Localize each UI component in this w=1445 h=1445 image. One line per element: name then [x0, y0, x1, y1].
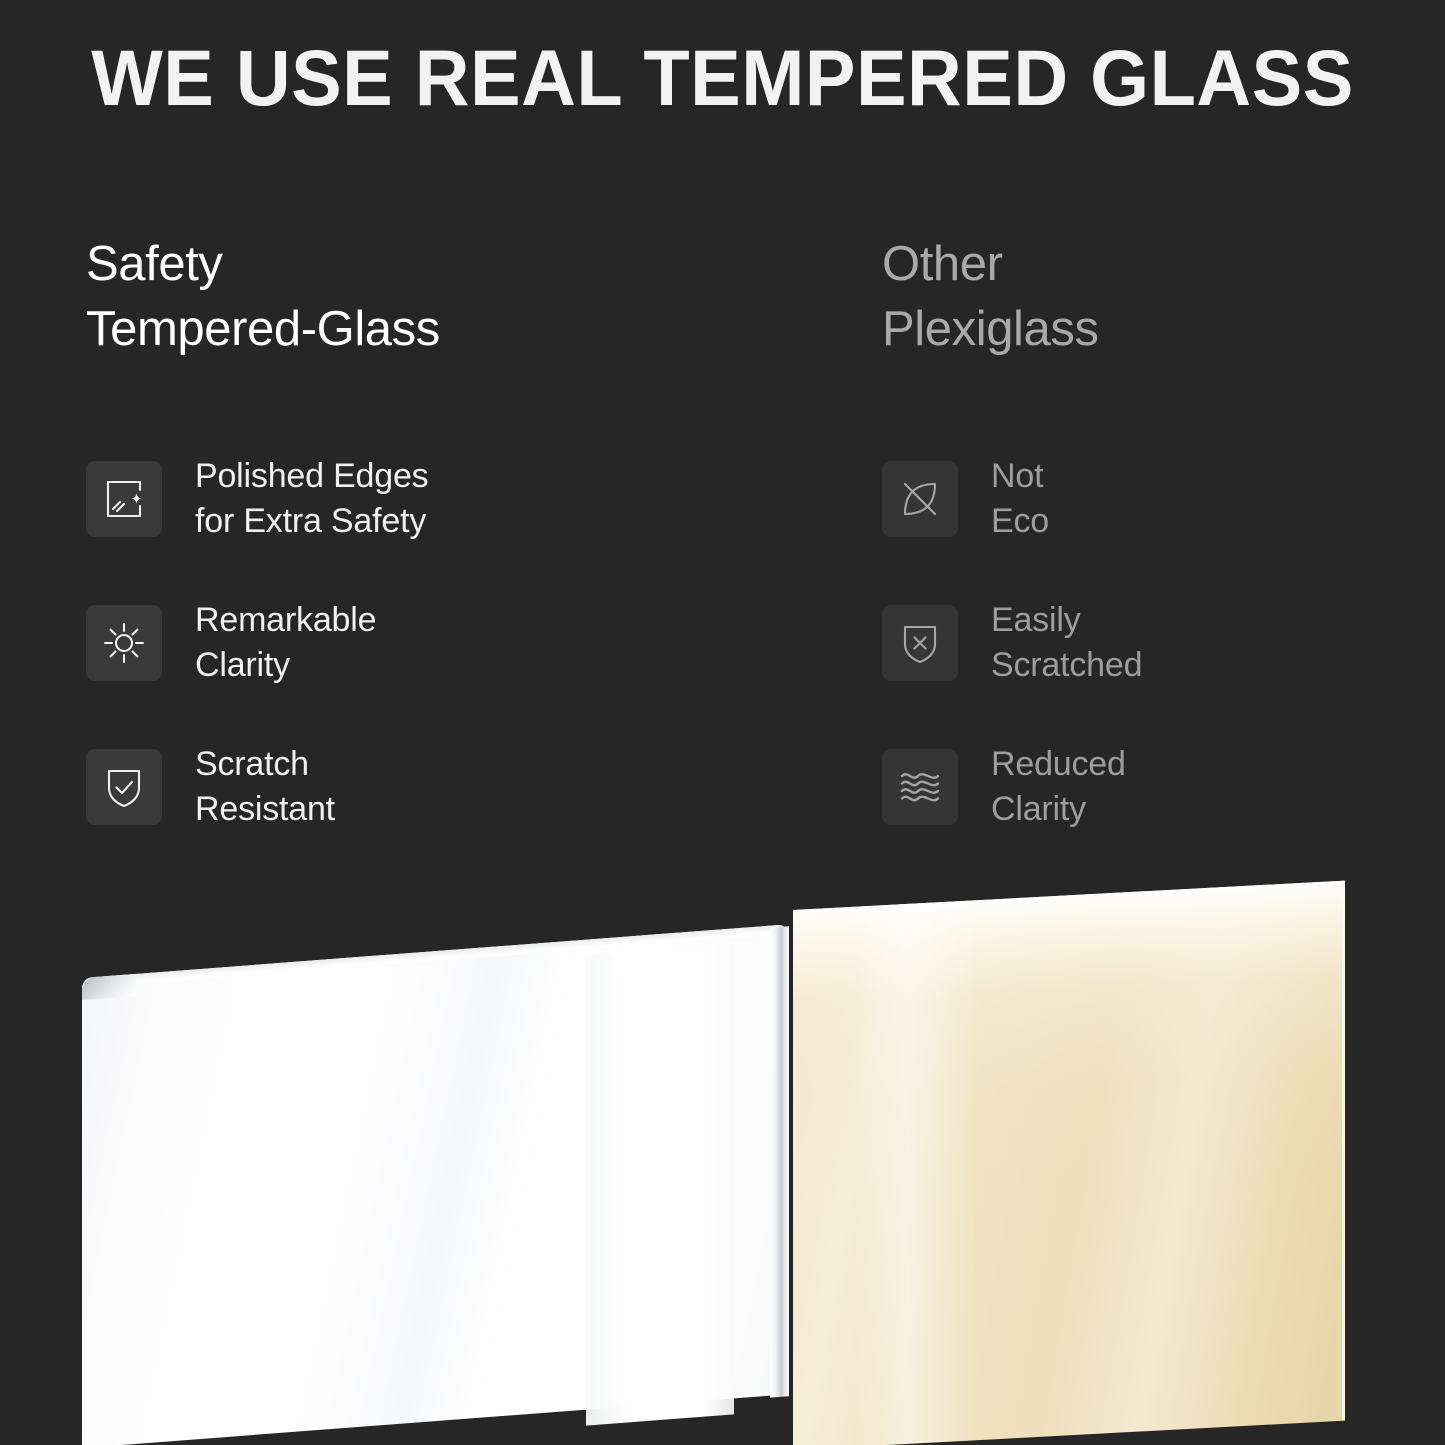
comparison-column-safety: Safety Tempered-Glass Polished Edges for… — [86, 232, 826, 362]
feature-label-reduced-clarity: Reduced Clarity — [991, 742, 1126, 832]
shield-check-icon — [86, 749, 162, 825]
feature-label-easily-scratched: Easily Scratched — [991, 598, 1142, 688]
comparison-column-other: Other Plexiglass Not Eco — [882, 232, 1382, 362]
feature-row-scratch-resistant: Scratch Resistant — [86, 740, 826, 834]
wavy-lines-icon — [882, 749, 958, 825]
feature-label-remarkable-clarity: Remarkable Clarity — [195, 598, 376, 688]
plexiglass-panel — [793, 881, 1345, 1445]
feature-row-remarkable-clarity: Remarkable Clarity — [86, 596, 826, 690]
feature-label-scratch-resistant: Scratch Resistant — [195, 742, 335, 832]
plexiglass-sheen — [853, 900, 973, 1445]
feature-row-reduced-clarity: Reduced Clarity — [882, 740, 1382, 834]
feature-label-not-eco: Not Eco — [991, 454, 1049, 544]
page-title: WE USE REAL TEMPERED GLASS — [29, 38, 1416, 117]
sun-brightness-icon — [86, 605, 162, 681]
product-photo — [0, 838, 1445, 1445]
feature-label-polished-edges: Polished Edges for Extra Safety — [195, 454, 428, 544]
feature-row-not-eco: Not Eco — [882, 452, 1382, 546]
tempered-glass-panel — [82, 924, 788, 1445]
product-comparison-infographic: WE USE REAL TEMPERED GLASS Safety Temper… — [0, 0, 1445, 1445]
leaf-crossed-out-icon — [882, 461, 958, 537]
polished-glass-pane-icon — [86, 461, 162, 537]
column-heading-safety: Safety Tempered-Glass — [86, 232, 826, 362]
feature-list-other: Not Eco Easily Scratched — [882, 452, 1382, 884]
column-heading-other: Other Plexiglass — [882, 232, 1382, 362]
feature-list-safety: Polished Edges for Extra Safety Remarkab… — [86, 452, 826, 884]
glass-reflection-band — [586, 944, 734, 1425]
feature-row-polished-edges: Polished Edges for Extra Safety — [86, 452, 826, 546]
feature-row-easily-scratched: Easily Scratched — [882, 596, 1382, 690]
glass-side-polished-edge — [770, 926, 789, 1397]
shield-x-icon — [882, 605, 958, 681]
glass-corner-highlight — [82, 974, 136, 1000]
